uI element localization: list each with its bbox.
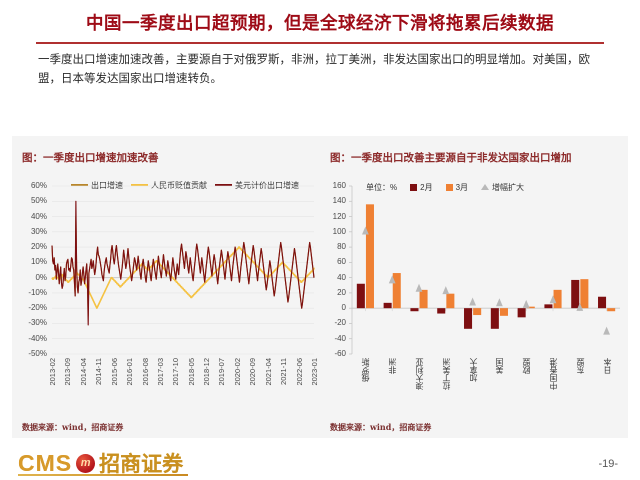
left-chart-source: 数据来源：wind，招商证券 <box>22 422 123 433</box>
x-axis-tick-label: 2018-05 <box>187 358 196 386</box>
bar-3月-加拿大 <box>473 308 481 315</box>
left-chart-title: 图：一季度出口增速加速改善 <box>22 150 314 165</box>
slide-footer: CMS m 招商证券 -19- <box>0 444 640 480</box>
left-line-chart-svg <box>12 176 320 416</box>
chart-panel-left: 图：一季度出口增速加速改善 出口增速 人民币贬值贡献 美元计价出口增速 数据来源… <box>12 136 320 438</box>
y-axis-tick-label: 50% <box>12 196 47 205</box>
x-axis-tick-label: 2020-02 <box>233 358 242 386</box>
x-axis-tick-label: 2014-11 <box>94 358 103 385</box>
bar-2月-日本 <box>598 297 606 308</box>
page-subtitle: 一季度出口增速加速改善，主要源自于对俄罗斯，非洲，拉丁美洲，非发达国家出口的明显… <box>38 50 608 88</box>
bar-3月-美国 <box>500 308 508 316</box>
bar-2月-拉丁美洲 <box>437 308 445 313</box>
x-axis-category-label: 澳大利亚 <box>414 358 425 390</box>
logo-badge-icon: m <box>76 454 95 473</box>
x-axis-category-label: 美国 <box>494 358 505 374</box>
x-axis-tick-label: 2023-01 <box>310 358 319 386</box>
bar-2月-俄罗斯 <box>357 284 365 308</box>
marker-triangle-拉丁美洲 <box>442 286 449 294</box>
y-axis-tick-label: 120 <box>320 212 346 221</box>
x-axis-tick-label: 2021-11 <box>279 358 288 385</box>
x-axis-tick-label: 2018-12 <box>202 358 211 386</box>
y-axis-tick-label: 140 <box>320 196 346 205</box>
x-axis-category-label: 中国香港 <box>548 358 559 390</box>
page-number: -19- <box>598 458 618 470</box>
y-axis-tick-label: 40% <box>12 212 47 221</box>
y-axis-tick-label: 40 <box>320 273 346 282</box>
x-axis-tick-label: 2014-04 <box>79 358 88 386</box>
bar-3月-俄罗斯 <box>366 204 374 308</box>
title-divider <box>36 42 604 44</box>
logo-latin-text: CMS <box>18 450 72 477</box>
x-axis-tick-label: 2016-01 <box>125 358 134 386</box>
marker-triangle-欧盟 <box>523 300 530 308</box>
x-axis-category-label: 加拿大 <box>468 358 479 382</box>
y-axis-tick-label: 0% <box>12 273 47 282</box>
x-axis-tick-label: 2020-09 <box>248 358 257 386</box>
y-axis-tick-label: -40% <box>12 334 47 343</box>
y-axis-tick-label: 60% <box>12 181 47 190</box>
bar-3月-非洲 <box>393 273 401 308</box>
bar-2月-东盟 <box>571 280 579 308</box>
y-axis-tick-label: 30% <box>12 227 47 236</box>
left-chart-plot <box>12 176 320 416</box>
chart-panel-right: 图：一季度出口改善主要源自于非发达国家出口增加 单位：% 2月 3月 增幅扩大 … <box>320 136 628 438</box>
bar-2月-非洲 <box>384 303 392 308</box>
x-axis-tick-label: 2017-03 <box>156 358 165 386</box>
x-axis-tick-label: 2017-10 <box>171 358 180 386</box>
marker-triangle-美国 <box>496 298 503 306</box>
y-axis-tick-label: -20 <box>320 318 346 327</box>
line-series-美元计价出口增速 <box>52 201 314 325</box>
x-axis-tick-label: 2019-07 <box>217 358 226 386</box>
x-axis-tick-label: 2013-02 <box>48 358 57 386</box>
logo-underline <box>18 474 188 476</box>
bar-3月-澳大利亚 <box>420 290 428 308</box>
right-chart-title: 图：一季度出口改善主要源自于非发达国家出口增加 <box>330 150 622 165</box>
bar-3月-东盟 <box>580 279 588 308</box>
y-axis-tick-label: -50% <box>12 349 47 358</box>
x-axis-tick-label: 2022-06 <box>295 358 304 386</box>
bar-2月-澳大利亚 <box>410 308 418 311</box>
x-axis-category-label: 拉丁美洲 <box>441 358 452 390</box>
bar-2月-中国香港 <box>544 304 552 308</box>
y-axis-tick-label: 160 <box>320 181 346 190</box>
x-axis-category-label: 日本 <box>602 358 613 374</box>
x-axis-category-label: 欧盟 <box>521 358 532 374</box>
x-axis-tick-label: 2013-09 <box>63 358 72 386</box>
page-title: 中国一季度出口超预期，但是全球经济下滑将拖累后续数据 <box>0 10 640 35</box>
bar-3月-中国香港 <box>554 290 562 308</box>
y-axis-tick-label: -20% <box>12 303 47 312</box>
x-axis-tick-label: 2015-06 <box>110 358 119 386</box>
bar-3月-拉丁美洲 <box>446 294 454 309</box>
y-axis-tick-label: -10% <box>12 288 47 297</box>
y-axis-tick-label: 10% <box>12 257 47 266</box>
y-axis-tick-label: -30% <box>12 318 47 327</box>
x-axis-tick-label: 2021-04 <box>264 358 273 386</box>
y-axis-tick-label: 0 <box>320 303 346 312</box>
y-axis-tick-label: 20% <box>12 242 47 251</box>
right-chart-source: 数据来源：wind，招商证券 <box>330 422 431 433</box>
y-axis-tick-label: -60 <box>320 349 346 358</box>
x-axis-tick-label: 2016-08 <box>141 358 150 386</box>
bar-3月-日本 <box>607 308 615 311</box>
marker-triangle-加拿大 <box>469 298 476 306</box>
bar-2月-美国 <box>491 308 499 329</box>
marker-triangle-澳大利亚 <box>416 284 423 292</box>
x-axis-category-label: 俄罗斯 <box>360 358 371 382</box>
marker-triangle-日本 <box>603 327 610 335</box>
y-axis-tick-label: 60 <box>320 257 346 266</box>
y-axis-tick-label: 80 <box>320 242 346 251</box>
x-axis-category-label: 东盟 <box>575 358 586 374</box>
slide-header: 中国一季度出口超预期，但是全球经济下滑将拖累后续数据 一季度出口增速加速改善，主… <box>0 0 640 112</box>
x-axis-category-label: 非洲 <box>387 358 398 374</box>
y-axis-tick-label: 20 <box>320 288 346 297</box>
bar-2月-欧盟 <box>518 308 526 317</box>
y-axis-tick-label: -40 <box>320 334 346 343</box>
bar-2月-加拿大 <box>464 308 472 329</box>
y-axis-tick-label: 100 <box>320 227 346 236</box>
